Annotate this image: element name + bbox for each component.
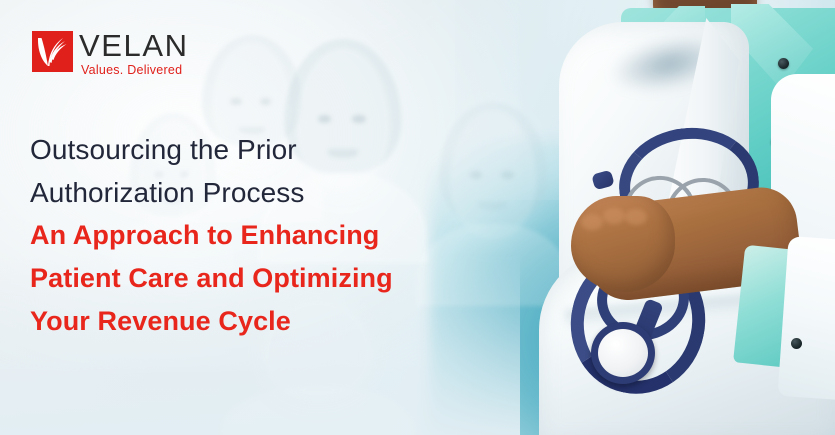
subheadline-line-2: Patient Care and Optimizing (30, 265, 460, 292)
ghost-eye-left (230, 98, 242, 105)
shirt-button-top (778, 58, 789, 69)
subheadline-line-3: Your Revenue Cycle (30, 308, 460, 335)
headline-line-2: Authorization Process (30, 179, 460, 207)
doctor-knuckle (603, 208, 625, 224)
velan-wordmark: VELAN Values. Delivered (79, 31, 189, 76)
ghost-torso (220, 387, 416, 435)
ghost-eye-left (470, 171, 482, 179)
ghost-mouth (239, 127, 265, 134)
logo-velan-text: VELAN (79, 31, 189, 61)
cuff-button (791, 338, 802, 349)
headline-line-1: Outsourcing the Prior (30, 136, 460, 164)
velan-v-mark-icon (32, 31, 73, 72)
ghost-eye-right (352, 115, 366, 124)
stethoscope-chestpiece (591, 322, 655, 384)
marketing-banner: VELAN Values. Delivered Outsourcing the … (0, 0, 835, 435)
ghost-eye-left (318, 115, 332, 124)
logo-tagline-text: Values. Delivered (81, 64, 182, 77)
ghost-mouth (479, 202, 507, 210)
doctor-knuckle (625, 209, 647, 225)
velan-logo[interactable]: VELAN Values. Delivered (32, 31, 189, 76)
doctor-photo (535, 0, 835, 435)
ghost-eye-right (501, 171, 513, 179)
banner-headline: Outsourcing the Prior Authorization Proc… (30, 136, 460, 335)
doctor-knuckle (581, 214, 603, 230)
ghost-head (450, 110, 536, 239)
doctor-hand (571, 196, 675, 292)
ghost-eye-right (260, 98, 272, 105)
lab-coat-cuff (777, 236, 835, 400)
subheadline-line-1: An Approach to Enhancing (30, 222, 460, 249)
